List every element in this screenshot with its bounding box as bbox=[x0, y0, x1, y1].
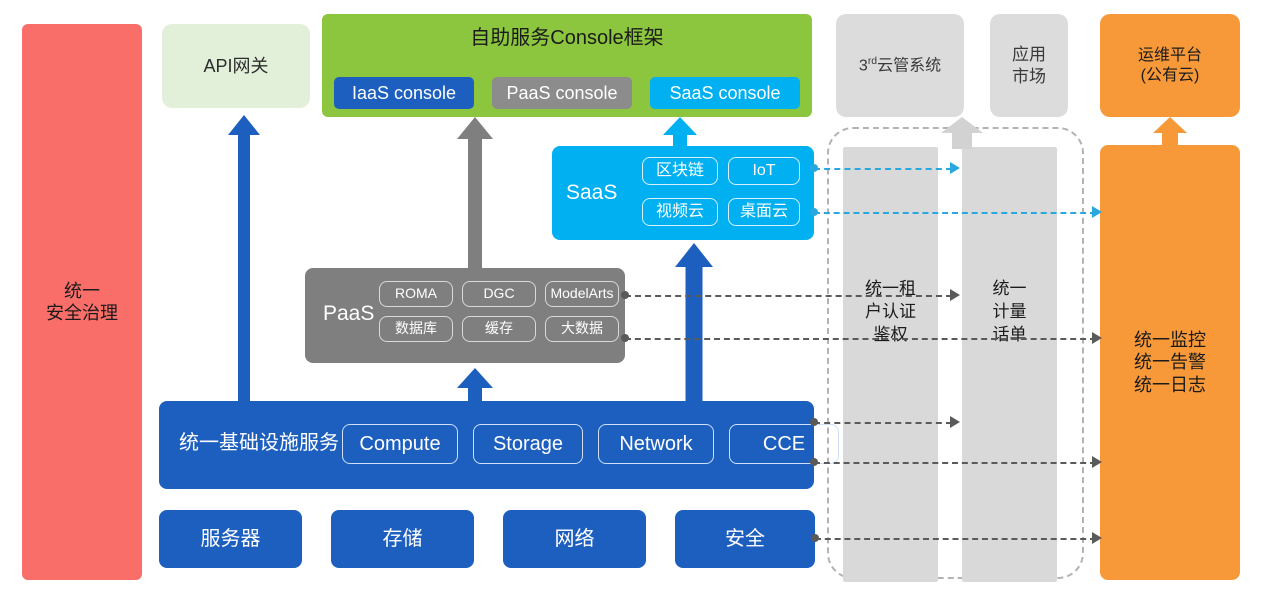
app-market-box[interactable]: 应用 市场 bbox=[990, 14, 1068, 117]
arrow-saas-to-console bbox=[662, 117, 698, 151]
paas-chip-roma[interactable]: ROMA bbox=[379, 281, 453, 307]
dash-saas-to-metering bbox=[814, 168, 952, 170]
saas-chip-iot[interactable]: IoT bbox=[728, 157, 800, 185]
dash-arrowhead-saas-to-ops bbox=[1092, 206, 1102, 218]
arrow-ops-column-to-ops-platform bbox=[1152, 117, 1188, 149]
dash-arrowhead-saas-to-metering bbox=[950, 162, 960, 174]
iaas-chip-compute[interactable]: Compute bbox=[342, 424, 458, 464]
hardware-security-box[interactable]: 安全 bbox=[675, 510, 815, 568]
dash-hardware-to-ops bbox=[815, 538, 1096, 540]
dash-arrowhead-iaas-to-metering bbox=[950, 416, 960, 428]
saas-chip-blockchain[interactable]: 区块链 bbox=[642, 157, 718, 185]
hardware-server-box[interactable]: 服务器 bbox=[159, 510, 302, 568]
dash-arrowhead-paas-to-ops bbox=[1092, 332, 1102, 344]
iaas-chip-storage[interactable]: Storage bbox=[473, 424, 583, 464]
dash-paas-to-ops bbox=[625, 338, 1096, 340]
iaas-chip-network[interactable]: Network bbox=[598, 424, 714, 464]
saas-block[interactable]: SaaS 区块链 IoT 视频云 桌面云 bbox=[552, 146, 814, 240]
third-party-cloud-mgmt-box[interactable]: 3rd云管系统 bbox=[836, 14, 964, 117]
dash-arrowhead-paas-to-metering bbox=[950, 289, 960, 301]
paas-chip-dgc[interactable]: DGC bbox=[462, 281, 536, 307]
third-party-label: 3rd云管系统 bbox=[859, 55, 941, 76]
saas-chip-desktop-cloud[interactable]: 桌面云 bbox=[728, 198, 800, 226]
paas-label: PaaS bbox=[323, 301, 374, 327]
dash-iaas-to-metering bbox=[814, 422, 952, 424]
hardware-storage-box[interactable]: 存储 bbox=[331, 510, 474, 568]
dash-paas-to-metering bbox=[625, 295, 952, 297]
paas-chip-modelarts[interactable]: ModelArts bbox=[545, 281, 619, 307]
arrow-paas-to-console bbox=[455, 117, 495, 272]
arrow-iaas-to-saas bbox=[674, 243, 714, 405]
api-gateway-box[interactable]: API网关 bbox=[162, 24, 310, 108]
paas-chip-bigdata[interactable]: 大数据 bbox=[545, 316, 619, 342]
saas-label: SaaS bbox=[566, 180, 617, 206]
saas-chip-video-cloud[interactable]: 视频云 bbox=[642, 198, 718, 226]
iaas-infrastructure-bar[interactable]: 统一基础设施服务 Compute Storage Network CCE bbox=[159, 401, 814, 489]
arrow-iaas-to-api-gateway bbox=[228, 115, 260, 403]
dash-iaas-to-ops bbox=[814, 462, 1096, 464]
paas-chip-cache[interactable]: 缓存 bbox=[462, 316, 536, 342]
dash-arrowhead-iaas-to-ops bbox=[1092, 456, 1102, 468]
hardware-network-box[interactable]: 网络 bbox=[503, 510, 646, 568]
ops-monitoring-column[interactable]: 统一监控 统一告警 统一日志 bbox=[1100, 145, 1240, 580]
arrow-iaas-to-paas bbox=[455, 368, 495, 406]
security-governance-column[interactable]: 统一 安全治理 bbox=[22, 24, 142, 580]
console-framework-box[interactable]: 自助服务Console框架 IaaS console PaaS console … bbox=[322, 14, 812, 117]
paas-block[interactable]: PaaS ROMA DGC ModelArts 数据库 缓存 大数据 bbox=[305, 268, 625, 363]
iaas-console-pill[interactable]: IaaS console bbox=[334, 77, 474, 109]
unified-metering-label: 统一 计量 话单 bbox=[962, 278, 1057, 347]
paas-console-pill[interactable]: PaaS console bbox=[492, 77, 632, 109]
saas-console-pill[interactable]: SaaS console bbox=[650, 77, 800, 109]
dash-saas-to-ops bbox=[814, 212, 1096, 214]
ops-platform-box[interactable]: 运维平台 (公有云) bbox=[1100, 14, 1240, 117]
architecture-diagram: 统一 安全治理 API网关 自助服务Console框架 IaaS console… bbox=[0, 0, 1265, 605]
arrow-shared-to-third-party bbox=[940, 117, 984, 149]
iaas-label: 统一基础设施服务 bbox=[179, 431, 339, 456]
dash-arrowhead-hardware-to-ops bbox=[1092, 532, 1102, 544]
paas-chip-database[interactable]: 数据库 bbox=[379, 316, 453, 342]
unified-auth-label: 统一租 户认证 鉴权 bbox=[843, 278, 938, 347]
console-framework-title: 自助服务Console框架 bbox=[322, 26, 812, 51]
iaas-chip-cce[interactable]: CCE bbox=[729, 424, 839, 464]
